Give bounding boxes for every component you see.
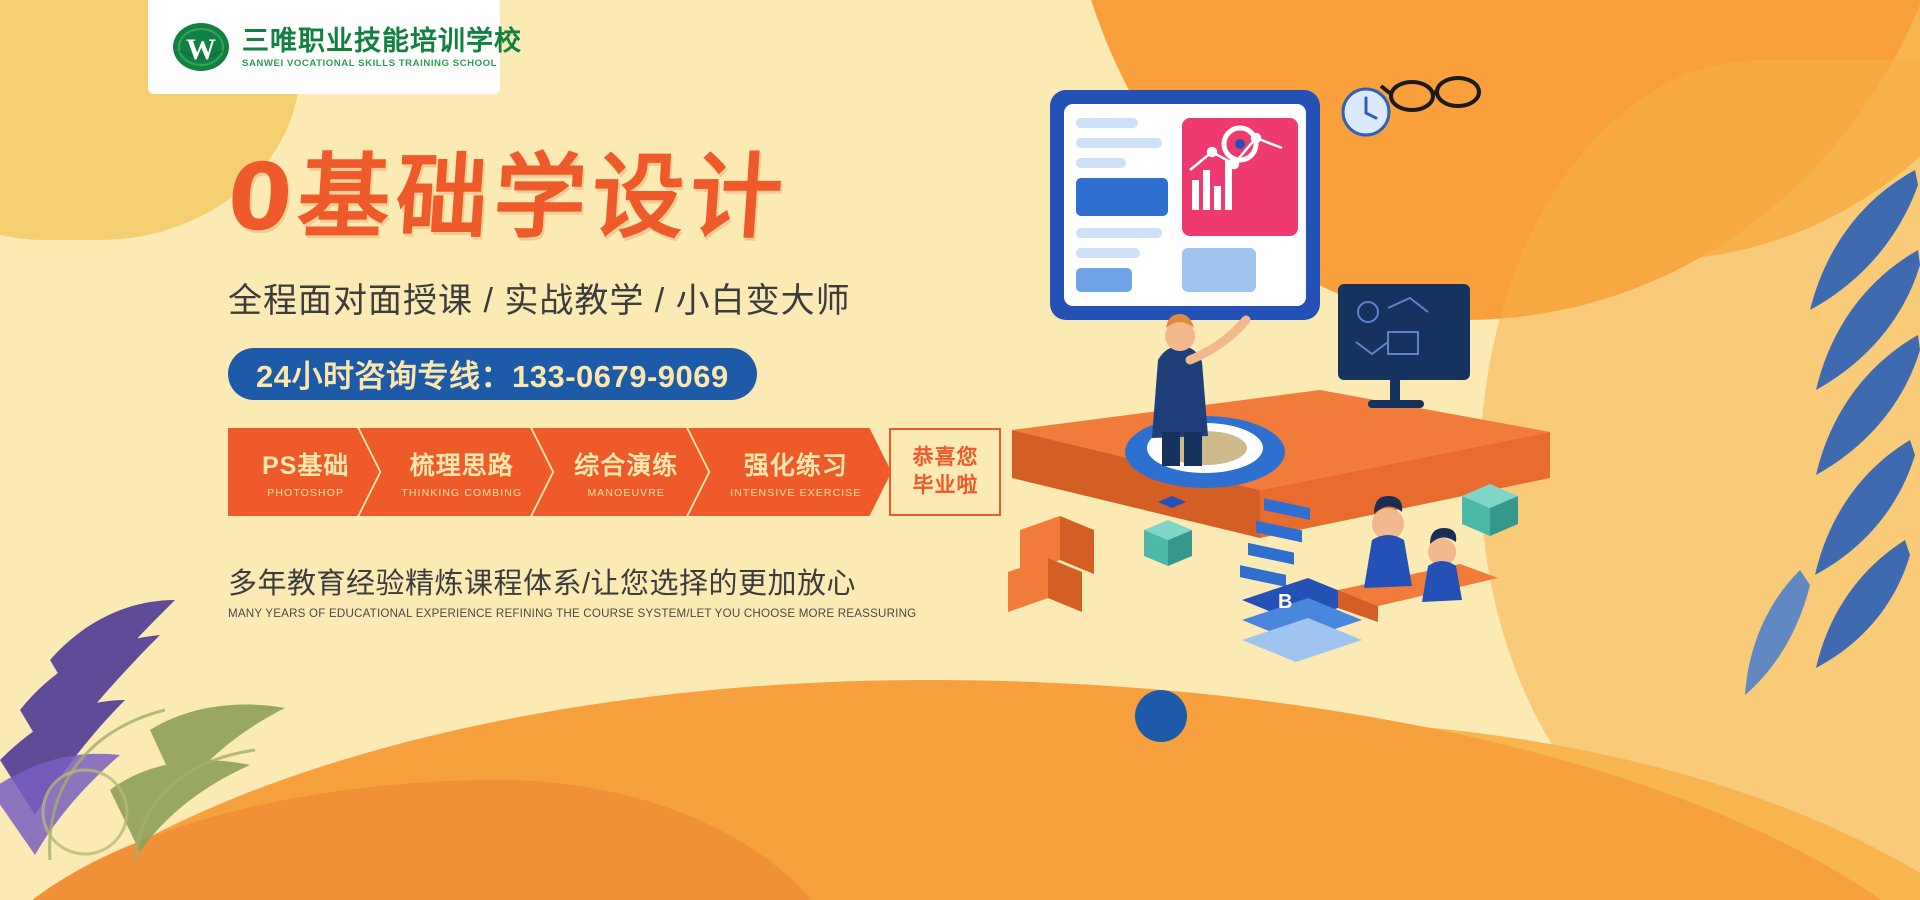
graduation-line-1: 恭喜您 [912,444,978,472]
brand-name-cn: 三唯职业技能培训学校 [242,27,522,55]
hero-subtitle: 全程面对面授课 / 实战教学 / 小白变大师 [228,273,988,322]
step-item[interactable]: 强化练习 INTENSIVE EXERCISE [688,428,891,516]
brand-name-en: SANWEI VOCATIONAL SKILLS TRAINING SCHOOL [242,58,522,69]
step-label-en: MANOEUVRE [587,487,665,499]
cube-icon [1008,516,1094,612]
leaf-icon [1660,140,1920,700]
step-label-cn: 综合演练 [574,446,678,482]
brand-logo-plate[interactable]: W 三唯职业技能培训学校 SANWEI VOCATIONAL SKILLS TR… [148,0,500,94]
footer-tagline: 多年教育经验精炼课程体系/让您选择的更加放心 MANY YEARS OF EDU… [228,560,928,620]
course-steps: PS基础 PHOTOSHOP 梳理思路 THINKING COMBING 综合演… [228,428,1001,516]
svg-text:B: B [1278,591,1292,613]
step-label-cn: PS基础 [262,446,349,482]
circle-dot-icon [1135,690,1187,742]
step-label-en: THINKING COMBING [401,487,522,499]
leaf-icon [0,460,320,860]
svg-text:W: W [186,33,216,66]
illustration-group: B [990,60,1610,680]
page-title: 0基础学设计 [225,150,992,247]
tagline-cn: 多年教育经验精炼课程体系/让您选择的更加放心 [228,560,928,602]
step-label-en: INTENSIVE EXERCISE [730,487,861,499]
step-item[interactable]: 综合演练 MANOEUVRE [532,428,708,516]
graduation-badge: 恭喜您 毕业啦 [889,428,1001,516]
tv-screen-icon [1338,284,1470,408]
step-label-en: PHOTOSHOP [267,487,344,499]
graduation-line-2: 毕业啦 [912,472,978,500]
w-monogram-oval-icon: W [172,21,230,73]
desktop-monitor-icon [1050,90,1320,320]
step-item[interactable]: PS基础 PHOTOSHOP [228,428,379,516]
hotline-pill[interactable]: 24小时咨询专线：133-0679-9069 [228,348,757,400]
eyeglasses-icon [1381,78,1479,110]
step-label-cn: 强化练习 [744,446,848,482]
clock-icon [1343,89,1389,135]
hero-content: 0基础学设计 全程面对面授课 / 实战教学 / 小白变大师 24小时咨询专线：1… [228,150,988,400]
banner-root: W 三唯职业技能培训学校 SANWEI VOCATIONAL SKILLS TR… [0,0,1920,900]
step-item[interactable]: 梳理思路 THINKING COMBING [359,428,552,516]
step-label-cn: 梳理思路 [410,446,514,482]
tagline-en: MANY YEARS OF EDUCATIONAL EXPERIENCE REF… [228,607,928,620]
